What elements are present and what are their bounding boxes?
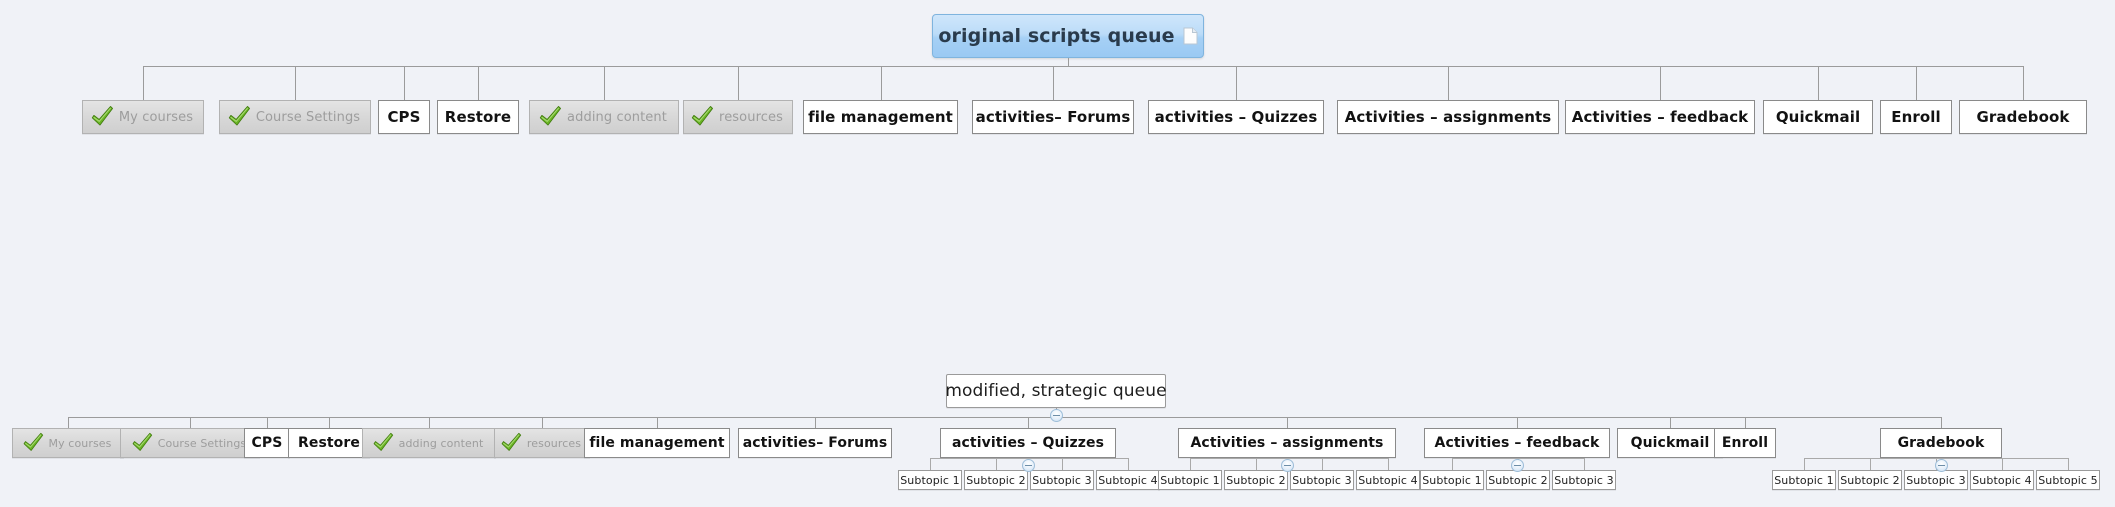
connector-line bbox=[604, 66, 605, 100]
connector-line bbox=[295, 66, 296, 100]
node-course-settings[interactable]: Course Settings bbox=[120, 428, 260, 458]
node-label: Enroll bbox=[1891, 110, 1941, 125]
node-label: file management bbox=[589, 436, 724, 450]
node-adding-content[interactable]: adding content bbox=[529, 100, 679, 134]
collapse-toggle-root[interactable] bbox=[1050, 409, 1063, 422]
connector-line bbox=[738, 66, 739, 100]
node-enroll[interactable]: Enroll bbox=[1714, 428, 1776, 458]
subtopic-node[interactable]: Subtopic 2 bbox=[964, 470, 1028, 490]
green-check-icon bbox=[89, 104, 115, 130]
node-label: Enroll bbox=[1722, 436, 1768, 450]
node-quickmail[interactable]: Quickmail bbox=[1763, 100, 1873, 134]
connector-line bbox=[996, 458, 997, 470]
node-quickmail[interactable]: Quickmail bbox=[1617, 428, 1723, 458]
node-enroll[interactable]: Enroll bbox=[1880, 100, 1952, 134]
node-label: My courses bbox=[119, 111, 193, 124]
node-label: Quickmail bbox=[1631, 436, 1710, 450]
connector-line bbox=[930, 458, 931, 470]
node-label: Gradebook bbox=[1898, 436, 1985, 450]
connector-line bbox=[478, 66, 479, 100]
subtopic-label: Subtopic 2 bbox=[1840, 475, 1900, 486]
node-activities-quizzes[interactable]: activities – Quizzes bbox=[1148, 100, 1324, 134]
node-file-management[interactable]: file management bbox=[803, 100, 958, 134]
connector-line bbox=[429, 417, 430, 428]
connector-line bbox=[1916, 66, 1917, 100]
connector-line bbox=[1517, 417, 1518, 428]
node-label: activities– Forums bbox=[743, 436, 888, 450]
connector-line bbox=[190, 417, 191, 428]
node-label: adding content bbox=[567, 111, 667, 124]
collapse-toggle[interactable] bbox=[1022, 459, 1035, 472]
subtopic-label: Subtopic 3 bbox=[1554, 475, 1614, 486]
node-resources[interactable]: resources bbox=[494, 428, 590, 458]
green-check-icon bbox=[499, 431, 523, 455]
node-restore[interactable]: Restore bbox=[288, 428, 370, 458]
subtopic-node[interactable]: Subtopic 4 bbox=[1356, 470, 1420, 490]
connector-line bbox=[1190, 458, 1191, 470]
node-label: activities – Quizzes bbox=[1155, 110, 1318, 125]
subtopic-node[interactable]: Subtopic 1 bbox=[1772, 470, 1836, 490]
node-activities-forums[interactable]: activities– Forums bbox=[972, 100, 1134, 134]
node-label: resources bbox=[719, 111, 783, 124]
connector-line bbox=[267, 417, 268, 428]
connector-line bbox=[1236, 66, 1237, 100]
node-restore[interactable]: Restore bbox=[437, 100, 519, 134]
connector-line bbox=[1804, 458, 1805, 470]
node-label: Course Settings bbox=[158, 438, 247, 449]
connector-line bbox=[1870, 458, 1871, 470]
collapse-toggle[interactable] bbox=[1281, 459, 1294, 472]
connector-line bbox=[1584, 458, 1585, 470]
node-label: Gradebook bbox=[1977, 110, 2070, 125]
node-label: Restore bbox=[298, 436, 360, 450]
node-label: activities– Forums bbox=[976, 110, 1131, 125]
connector-line bbox=[1287, 417, 1288, 428]
collapse-toggle[interactable] bbox=[1511, 459, 1524, 472]
node-label: Activities – feedback bbox=[1572, 110, 1749, 125]
root-node-original-scripts-queue[interactable]: original scripts queue bbox=[932, 14, 1204, 58]
document-icon bbox=[1183, 27, 1198, 45]
subtopic-node[interactable]: Subtopic 3 bbox=[1030, 470, 1094, 490]
node-activities-feedback[interactable]: Activities – feedback bbox=[1424, 428, 1610, 458]
connector-line bbox=[1660, 66, 1661, 100]
subtopic-label: Subtopic 2 bbox=[966, 475, 1026, 486]
connector-line bbox=[68, 417, 69, 428]
connector-line bbox=[1818, 66, 1819, 100]
subtopic-label: Subtopic 3 bbox=[1032, 475, 1092, 486]
connector-line bbox=[1670, 417, 1671, 428]
node-label: activities – Quizzes bbox=[952, 436, 1104, 450]
node-label: original scripts queue bbox=[938, 27, 1174, 46]
subtopic-label: Subtopic 4 bbox=[1358, 475, 1418, 486]
node-label: My courses bbox=[49, 438, 112, 449]
node-label: Activities – feedback bbox=[1435, 436, 1600, 450]
connector-line bbox=[1448, 66, 1449, 100]
subtopic-node[interactable]: Subtopic 3 bbox=[1904, 470, 1968, 490]
node-label: modified, strategic queue bbox=[945, 383, 1166, 400]
connector-line bbox=[404, 66, 405, 100]
connector-line bbox=[1388, 458, 1389, 470]
connector-line bbox=[2023, 66, 2024, 100]
node-activities-quizzes[interactable]: activities – Quizzes bbox=[940, 428, 1116, 458]
connector-line bbox=[1128, 458, 1129, 470]
subtopic-node[interactable]: Subtopic 1 bbox=[1420, 470, 1484, 490]
connector-line bbox=[542, 417, 543, 428]
node-label: Activities – assignments bbox=[1191, 436, 1384, 450]
subtopic-node[interactable]: Subtopic 4 bbox=[1970, 470, 2034, 490]
mindmap-canvas: original scripts queueMy coursesCourse S… bbox=[0, 0, 2115, 507]
subtopic-node[interactable]: Subtopic 1 bbox=[898, 470, 962, 490]
node-cps[interactable]: CPS bbox=[378, 100, 430, 134]
connector-line bbox=[143, 66, 2023, 67]
subtopic-node[interactable]: Subtopic 3 bbox=[1290, 470, 1354, 490]
node-label: Quickmail bbox=[1776, 110, 1860, 125]
node-label: Activities – assignments bbox=[1345, 110, 1552, 125]
collapse-toggle[interactable] bbox=[1935, 459, 1948, 472]
connector-line bbox=[881, 66, 882, 100]
node-my-courses[interactable]: My courses bbox=[82, 100, 204, 134]
subtopic-label: Subtopic 5 bbox=[2038, 475, 2098, 486]
connector-line bbox=[1062, 458, 1063, 470]
connector-line bbox=[1745, 417, 1746, 428]
node-resources[interactable]: resources bbox=[683, 100, 793, 134]
subtopic-label: Subtopic 1 bbox=[1774, 475, 1834, 486]
green-check-icon bbox=[21, 431, 45, 455]
node-activities-forums[interactable]: activities– Forums bbox=[738, 428, 892, 458]
node-label: adding content bbox=[399, 438, 484, 449]
connector-line bbox=[2068, 458, 2069, 470]
connector-line bbox=[68, 417, 1941, 418]
subtopic-label: Subtopic 4 bbox=[1098, 475, 1158, 486]
node-adding-content[interactable]: adding content bbox=[362, 428, 496, 458]
subtopic-node[interactable]: Subtopic 2 bbox=[1224, 470, 1288, 490]
green-check-icon bbox=[689, 104, 715, 130]
root-node-modified-strategic-queue[interactable]: modified, strategic queue bbox=[946, 374, 1166, 408]
connector-line bbox=[2002, 458, 2003, 470]
subtopic-label: Subtopic 4 bbox=[1972, 475, 2032, 486]
subtopic-node[interactable]: Subtopic 4 bbox=[1096, 470, 1160, 490]
node-gradebook[interactable]: Gradebook bbox=[1959, 100, 2087, 134]
subtopic-node[interactable]: Subtopic 2 bbox=[1838, 470, 1902, 490]
subtopic-node[interactable]: Subtopic 1 bbox=[1158, 470, 1222, 490]
node-label: CPS bbox=[387, 110, 420, 125]
node-my-courses[interactable]: My courses bbox=[12, 428, 124, 458]
subtopic-label: Subtopic 3 bbox=[1292, 475, 1352, 486]
node-file-management[interactable]: file management bbox=[584, 428, 730, 458]
connector-line bbox=[657, 417, 658, 428]
connector-line bbox=[329, 417, 330, 428]
connector-line bbox=[1053, 66, 1054, 100]
connector-line bbox=[1068, 58, 1069, 66]
node-activities-feedback[interactable]: Activities – feedback bbox=[1565, 100, 1755, 134]
node-label: Restore bbox=[445, 110, 511, 125]
subtopic-node[interactable]: Subtopic 2 bbox=[1486, 470, 1550, 490]
node-activities-assignments[interactable]: Activities – assignments bbox=[1337, 100, 1559, 134]
connector-line bbox=[1028, 417, 1029, 428]
connector-line bbox=[815, 417, 816, 428]
connector-line bbox=[1452, 458, 1453, 470]
subtopic-label: Subtopic 1 bbox=[900, 475, 960, 486]
node-course-settings[interactable]: Course Settings bbox=[219, 100, 371, 134]
green-check-icon bbox=[371, 431, 395, 455]
connector-line bbox=[1941, 417, 1942, 428]
connector-line bbox=[1256, 458, 1257, 470]
node-label: file management bbox=[808, 110, 953, 125]
subtopic-label: Subtopic 1 bbox=[1160, 475, 1220, 486]
connector-line bbox=[1322, 458, 1323, 470]
subtopic-label: Subtopic 3 bbox=[1906, 475, 1966, 486]
subtopic-node[interactable]: Subtopic 3 bbox=[1552, 470, 1616, 490]
green-check-icon bbox=[130, 431, 154, 455]
node-label: CPS bbox=[252, 436, 283, 450]
connector-line bbox=[143, 66, 144, 100]
subtopic-label: Subtopic 2 bbox=[1226, 475, 1286, 486]
green-check-icon bbox=[537, 104, 563, 130]
node-label: resources bbox=[527, 438, 581, 449]
green-check-icon bbox=[226, 104, 252, 130]
node-cps[interactable]: CPS bbox=[244, 428, 290, 458]
subtopic-label: Subtopic 2 bbox=[1488, 475, 1548, 486]
node-gradebook[interactable]: Gradebook bbox=[1880, 428, 2002, 458]
node-label: Course Settings bbox=[256, 111, 360, 124]
node-activities-assignments[interactable]: Activities – assignments bbox=[1178, 428, 1396, 458]
subtopic-label: Subtopic 1 bbox=[1422, 475, 1482, 486]
subtopic-node[interactable]: Subtopic 5 bbox=[2036, 470, 2100, 490]
